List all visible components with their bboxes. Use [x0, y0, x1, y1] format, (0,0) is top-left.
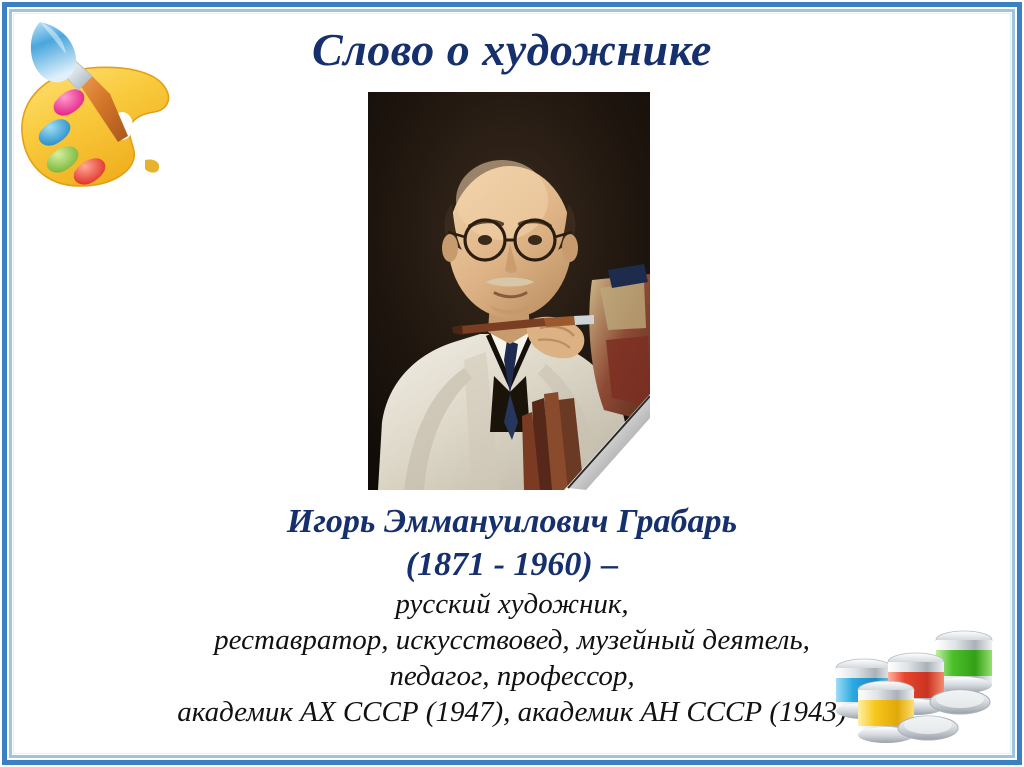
artist-name-line-1: Игорь Эммануилович Грабарь	[0, 500, 1024, 543]
paint-cans-icon	[828, 618, 1018, 746]
slide-canvas: Слово о художнике	[0, 0, 1024, 767]
artist-life-dates: (1871 - 1960) –	[0, 543, 1024, 586]
slide-title: Слово о художнике	[0, 24, 1024, 76]
portrait-image	[368, 92, 650, 490]
portrait-photo	[368, 92, 650, 490]
artist-desc-line-1: русский художник,	[0, 586, 1024, 622]
